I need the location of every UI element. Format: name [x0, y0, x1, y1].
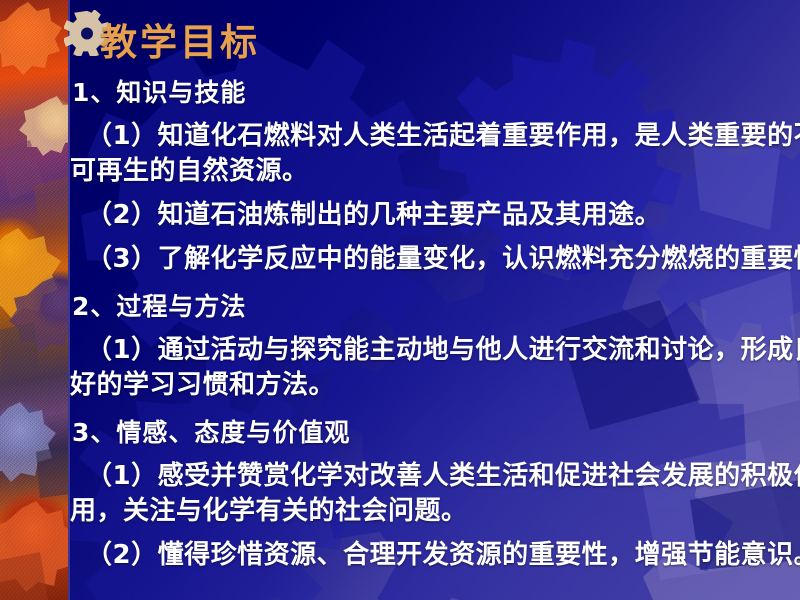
body-line: 可再生的自然资源。	[70, 154, 800, 189]
decorative-sidebar-image	[0, 0, 70, 600]
body-line: （1）通过活动与探究能主动地与他人进行交流和讨论，形成良	[70, 333, 800, 368]
spacer	[70, 277, 800, 290]
body-line: 用，关注与化学有关的社会问题。	[70, 494, 800, 529]
section-heading: 1、知识与技能	[70, 76, 800, 110]
sidebar-texture-overlay	[0, 0, 68, 600]
page-title: 教学目标	[100, 12, 260, 66]
section-heading: 2、过程与方法	[70, 290, 800, 324]
body-line: 好的学习习惯和方法。	[70, 368, 800, 403]
spacer	[70, 403, 800, 416]
slide-title-row: 教学目标	[70, 6, 800, 68]
spacer	[70, 110, 800, 119]
spacer	[70, 189, 800, 198]
body-line: （2）懂得珍惜资源、合理开发资源的重要性，增强节能意识。	[70, 538, 800, 573]
body-line: （1）感受并赞赏化学对改善人类生活和促进社会发展的积极作	[70, 459, 800, 494]
body-line: （1）知道化石燃料对人类生活起着重要作用，是人类重要的不	[70, 119, 800, 154]
presentation-slide: 教学目标 1、知识与技能（1）知道化石燃料对人类生活起着重要作用，是人类重要的不…	[0, 0, 800, 600]
spacer	[70, 324, 800, 333]
spacer	[70, 529, 800, 538]
spacer	[70, 233, 800, 242]
body-line: （3）了解化学反应中的能量变化，认识燃料充分燃烧的重要性	[70, 242, 800, 277]
spacer	[70, 450, 800, 459]
section-heading: 3、情感、态度与价值观	[70, 416, 800, 450]
slide-body: 1、知识与技能（1）知道化石燃料对人类生活起着重要作用，是人类重要的不可再生的自…	[70, 76, 800, 600]
body-line: （2）知道石油炼制出的几种主要产品及其用途。	[70, 198, 800, 233]
